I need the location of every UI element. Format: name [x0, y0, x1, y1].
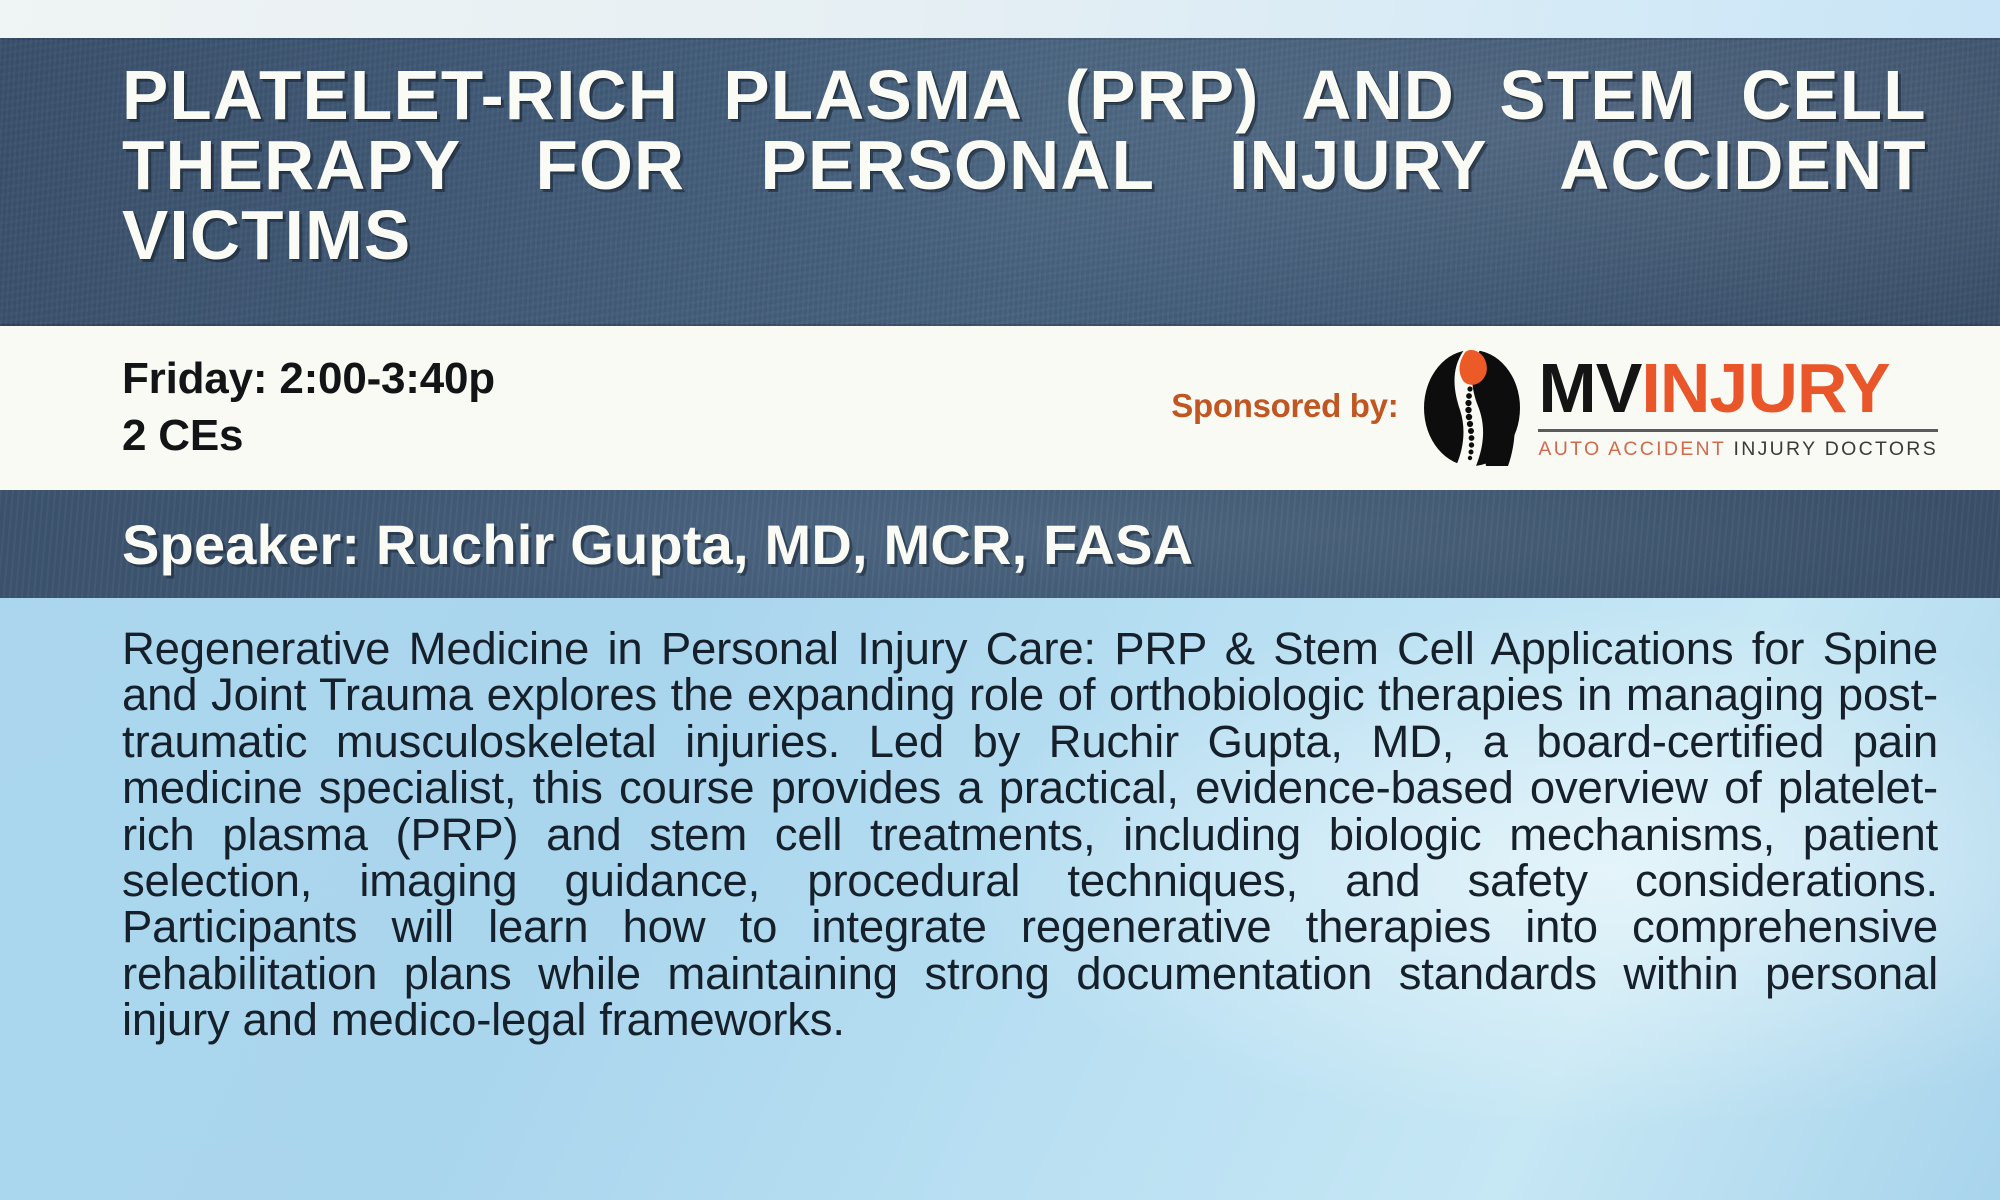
- speaker-band: Speaker: Ruchir Gupta, MD, MCR, FASA: [0, 490, 2000, 598]
- course-description: Regenerative Medicine in Personal Injury…: [122, 626, 1938, 1044]
- logo-tagline-doctors: INJURY DOCTORS: [1734, 438, 1938, 460]
- spine-logo-icon: [1420, 348, 1524, 468]
- schedule-time: Friday: 2:00-3:40p: [122, 354, 495, 405]
- schedule-sponsor-band: Friday: 2:00-3:40p 2 CEs Sponsored by:: [0, 326, 2000, 490]
- logo-word-row: MVINJURY: [1538, 355, 1938, 422]
- sponsor-logo[interactable]: MVINJURY AUTO ACCIDENT INJURY DOCTORS: [1420, 348, 1938, 468]
- sponsor-block: Sponsored by:: [1171, 326, 1938, 490]
- logo-tagline-auto: AUTO ACCIDENT: [1538, 438, 1725, 460]
- logo-wordmark: MVINJURY AUTO ACCIDENT INJURY DOCTORS: [1538, 355, 1938, 461]
- schedule-credits: 2 CEs: [122, 411, 495, 462]
- logo-tagline: AUTO ACCIDENT INJURY DOCTORS: [1538, 438, 1938, 461]
- title-band: Platelet-Rich Plasma (PRP) and Stem Cell…: [0, 38, 2000, 326]
- top-gradient-strip: [0, 0, 2000, 38]
- logo-word-injury: INJURY: [1641, 355, 1889, 422]
- schedule-block: Friday: 2:00-3:40p 2 CEs: [122, 354, 495, 461]
- logo-word-mv: MV: [1538, 355, 1641, 422]
- sponsored-by-label: Sponsored by:: [1171, 387, 1398, 429]
- description-area: Regenerative Medicine in Personal Injury…: [0, 598, 2000, 1200]
- logo-divider: [1538, 429, 1938, 432]
- speaker-name: Speaker: Ruchir Gupta, MD, MCR, FASA: [122, 512, 1193, 577]
- page-title: Platelet-Rich Plasma (PRP) and Stem Cell…: [122, 60, 1927, 326]
- course-flyer: Platelet-Rich Plasma (PRP) and Stem Cell…: [0, 0, 2000, 1200]
